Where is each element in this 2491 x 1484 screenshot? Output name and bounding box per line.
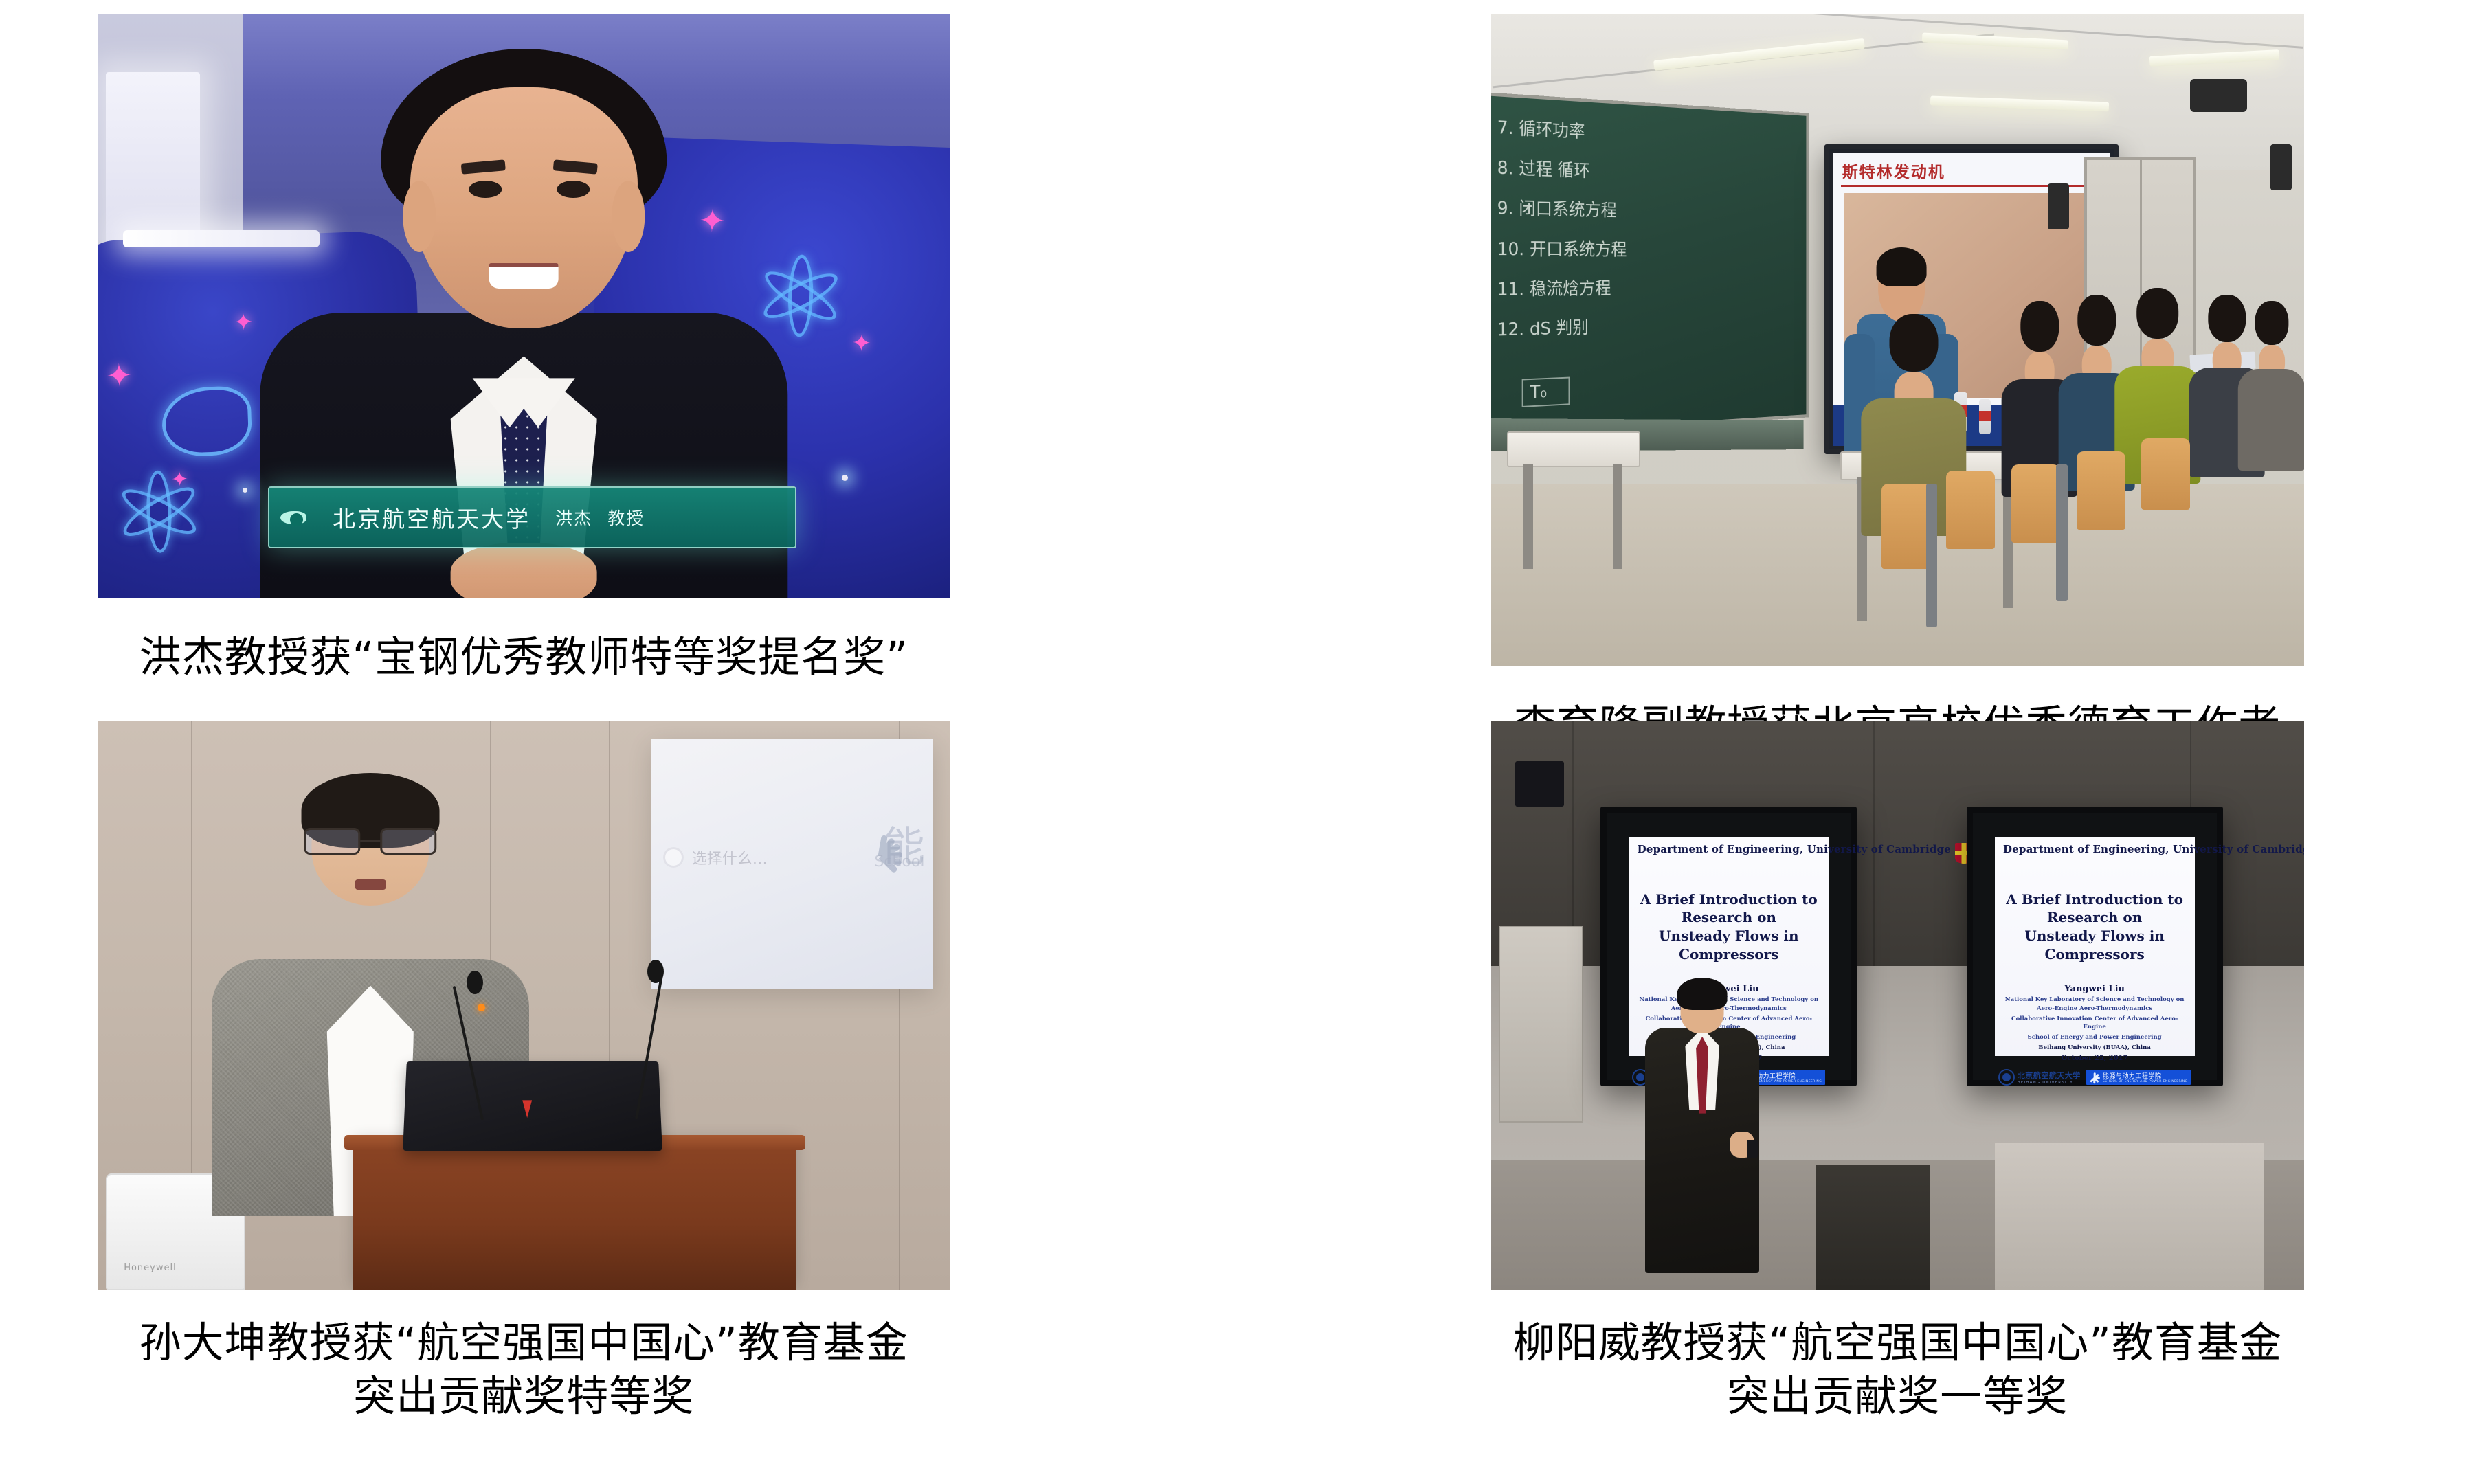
wall-speaker-icon [2270,144,2292,190]
card-li-yulong: 7. 循环功率 8. 过程 循环 9. 闭口系统方程 10. 开口系统方程 11… [1246,14,2491,721]
buaa-logo-en: BEIHANG UNIVERSITY [2018,1081,2081,1085]
clasped-hands [451,543,597,598]
caption-sun-dakun: 孙大坤教授获“航空强国中国心”教育基金 突出贡献奖特等奖 [98,1316,950,1424]
wooden-podium [353,1143,796,1290]
slide-title: 斯特林发动机 [1833,153,2110,185]
caption-line: 突出贡献奖特等奖 [98,1370,950,1424]
star-decor: ✦ [851,331,872,355]
screen-en-text: School [874,853,924,870]
title-slide: Department of Engineering, University of… [1995,837,2195,1056]
tv-interview-photo: ✦ ✦ ✦ ✦ ✦ ✦ [98,14,950,598]
buaa-logo-cn: 北京航空航天大学 [2018,1070,2081,1081]
face [410,87,638,329]
screen-bar-text: 选择什么… [692,846,768,868]
chalk-line: 11. 稳流焓方程 [1497,275,1611,300]
hair [1889,314,1938,372]
chalk-line: 10. 开口系统方程 [1497,235,1627,260]
hair [2021,301,2059,352]
caption-line: 柳阳威教授获“航空强国中国心”教育基金 [1491,1316,2305,1370]
slide-affiliation: National Key Laboratory of Science and T… [2003,996,2186,1013]
sepe-logo-en: SCHOOL OF ENERGY AND POWER ENGINEERING [2103,1080,2188,1083]
card-liu-yangwei: Department of Engineering, University of… [1246,721,2491,1429]
banner-person-name: 洪杰 [555,505,592,530]
star-decor: ✦ [234,311,254,335]
sepe-logo-cn: 能源与动力工程学院 [2103,1071,2188,1080]
caption-liu-yangwei: 柳阳威教授获“航空强国中国心”教育基金 突出贡献奖一等奖 [1491,1316,2305,1424]
side-table [1995,1143,2264,1290]
speaker-figure [1645,978,1759,1274]
eye-right [557,181,590,199]
atom-decor [759,254,837,332]
ear-right [612,181,645,252]
podium-lecture-photo: 选择什么… 能 School [98,721,950,1290]
display-right: Department of Engineering, University of… [1967,807,2223,1086]
front-desk [1507,431,1640,467]
slide-title-line2: Unsteady Flows in Compressors [1659,927,1798,963]
avatar-icon [663,847,684,868]
laptop[interactable] [403,1061,662,1151]
caption-line: 突出贡献奖一等奖 [1491,1370,2305,1424]
presentation-clicker[interactable] [1747,1140,1758,1158]
ear-left [403,181,436,252]
lower-third-banner: 北京航空航天大学 洪杰 教授 [268,486,796,548]
sepe-logo: 能源与动力工程学院 SCHOOL OF ENERGY AND POWER ENG… [2086,1070,2191,1085]
lecture-chair[interactable] [1946,471,1995,549]
dual-screen-talk-photo: Department of Engineering, University of… [1491,721,2305,1290]
hair [1677,978,1728,1010]
slide-title-line1: A Brief Introduction to Research on [1640,891,1818,926]
slide-affiliation: Collaborative Innovation Center of Advan… [2003,1015,2186,1033]
caption-hong-jie: 洪杰教授获“宝钢优秀教师特等奖提名奖” [98,631,950,684]
slide-title-line2: Unsteady Flows in Compressors [2024,927,2164,963]
slide-header: Department of Engineering, University of… [1638,843,1820,864]
sparkle-decor [243,488,247,493]
chalk-boxed-label: T₀ [1522,377,1570,407]
card-hong-jie: ✦ ✦ ✦ ✦ ✦ ✦ [0,14,1246,721]
caption-line: 洪杰教授获“宝钢优秀教师特等奖提名奖” [98,631,950,684]
slide-title-line1: A Brief Introduction to Research on [2006,891,2183,926]
wall-speaker-icon [2048,183,2069,229]
slide-date: October 25, 2017 [2003,1055,2186,1062]
lecture-chair[interactable] [2141,438,2190,510]
card-sun-dakun: 选择什么… 能 School [0,721,1246,1429]
hair [2255,301,2288,345]
star-decor: ✦ [106,359,133,392]
chalkboard: 7. 循环功率 8. 过程 循环 9. 闭口系统方程 10. 开口系统方程 11… [1491,92,1809,438]
slide-title: A Brief Introduction to Research on Unst… [1638,890,1820,964]
hair [2078,295,2116,346]
water-bottle [1979,399,1991,434]
chalk-line: 12. dS 判别 [1497,314,1588,341]
mouth [489,263,559,289]
atom-decor [116,469,194,548]
chair-frame [2056,464,2068,602]
lecture-chair[interactable] [2011,464,2060,543]
slide-logos: 北京航空航天大学 BEIHANG UNIVERSITY 能源与 [2003,1069,2186,1086]
slide-author: Yangwei Liu [2003,984,2186,994]
classroom-lecture-photo: 7. 循环功率 8. 过程 循环 9. 闭口系统方程 10. 开口系统方程 11… [1491,14,2305,666]
sparkle-decor [842,475,848,481]
caption-line: 孙大坤教授获“航空强国中国心”教育基金 [98,1316,950,1370]
buaa-logo: 北京航空航天大学 BEIHANG UNIVERSITY [1998,1069,2081,1086]
banner-school-name: 北京航空航天大学 [333,501,530,534]
side-cabinet [1499,926,1583,1123]
chalk-line: 9. 闭口系统方程 [1497,194,1616,222]
eye-left [469,181,502,199]
slide-affiliation: Beihang University (BUAA), China [2003,1044,2186,1053]
projector-icon [2190,79,2247,112]
mouth [355,879,386,890]
chalk-line: 8. 过程 循环 [1497,154,1589,182]
screen-toolbar: 选择什么… [663,844,826,871]
banner-person-title: 教授 [607,505,645,530]
slide-title: A Brief Introduction to Research on Unst… [2003,890,2186,964]
swirl-decor [161,385,252,457]
photo-caption-grid: ✦ ✦ ✦ ✦ ✦ ✦ [0,0,2491,1484]
ceiling-tube-light [123,230,319,248]
slide-department: Department of Engineering, University of… [1638,843,1951,855]
eyeglasses [304,830,437,852]
hair [2136,288,2179,339]
slide-department: Department of Engineering, University of… [2003,843,2304,855]
desk-leg [1523,464,1533,569]
chair-frame [1926,484,1938,627]
lecture-chair[interactable] [1881,484,1930,569]
lecture-chair[interactable] [2077,451,2125,530]
desk-leg [1613,464,1622,569]
slide-header: Department of Engineering, University of… [2003,843,2186,864]
fan-blade-icon [2090,1072,2100,1082]
buaa-seal-icon [1998,1069,2015,1086]
hair [1877,247,1927,286]
wall-speaker-icon [1515,761,1564,807]
microphone-head [647,960,664,983]
student-figure [2239,301,2304,471]
grey-top [2237,369,2304,471]
slide-affiliation: School of Energy and Power Engineering [2003,1033,2186,1042]
pedestal [1816,1165,1930,1290]
projection-screen: 选择什么… 能 School [651,739,932,989]
chalk-line: 7. 循环功率 [1497,113,1585,143]
broadcast-logo-icon [280,506,317,529]
